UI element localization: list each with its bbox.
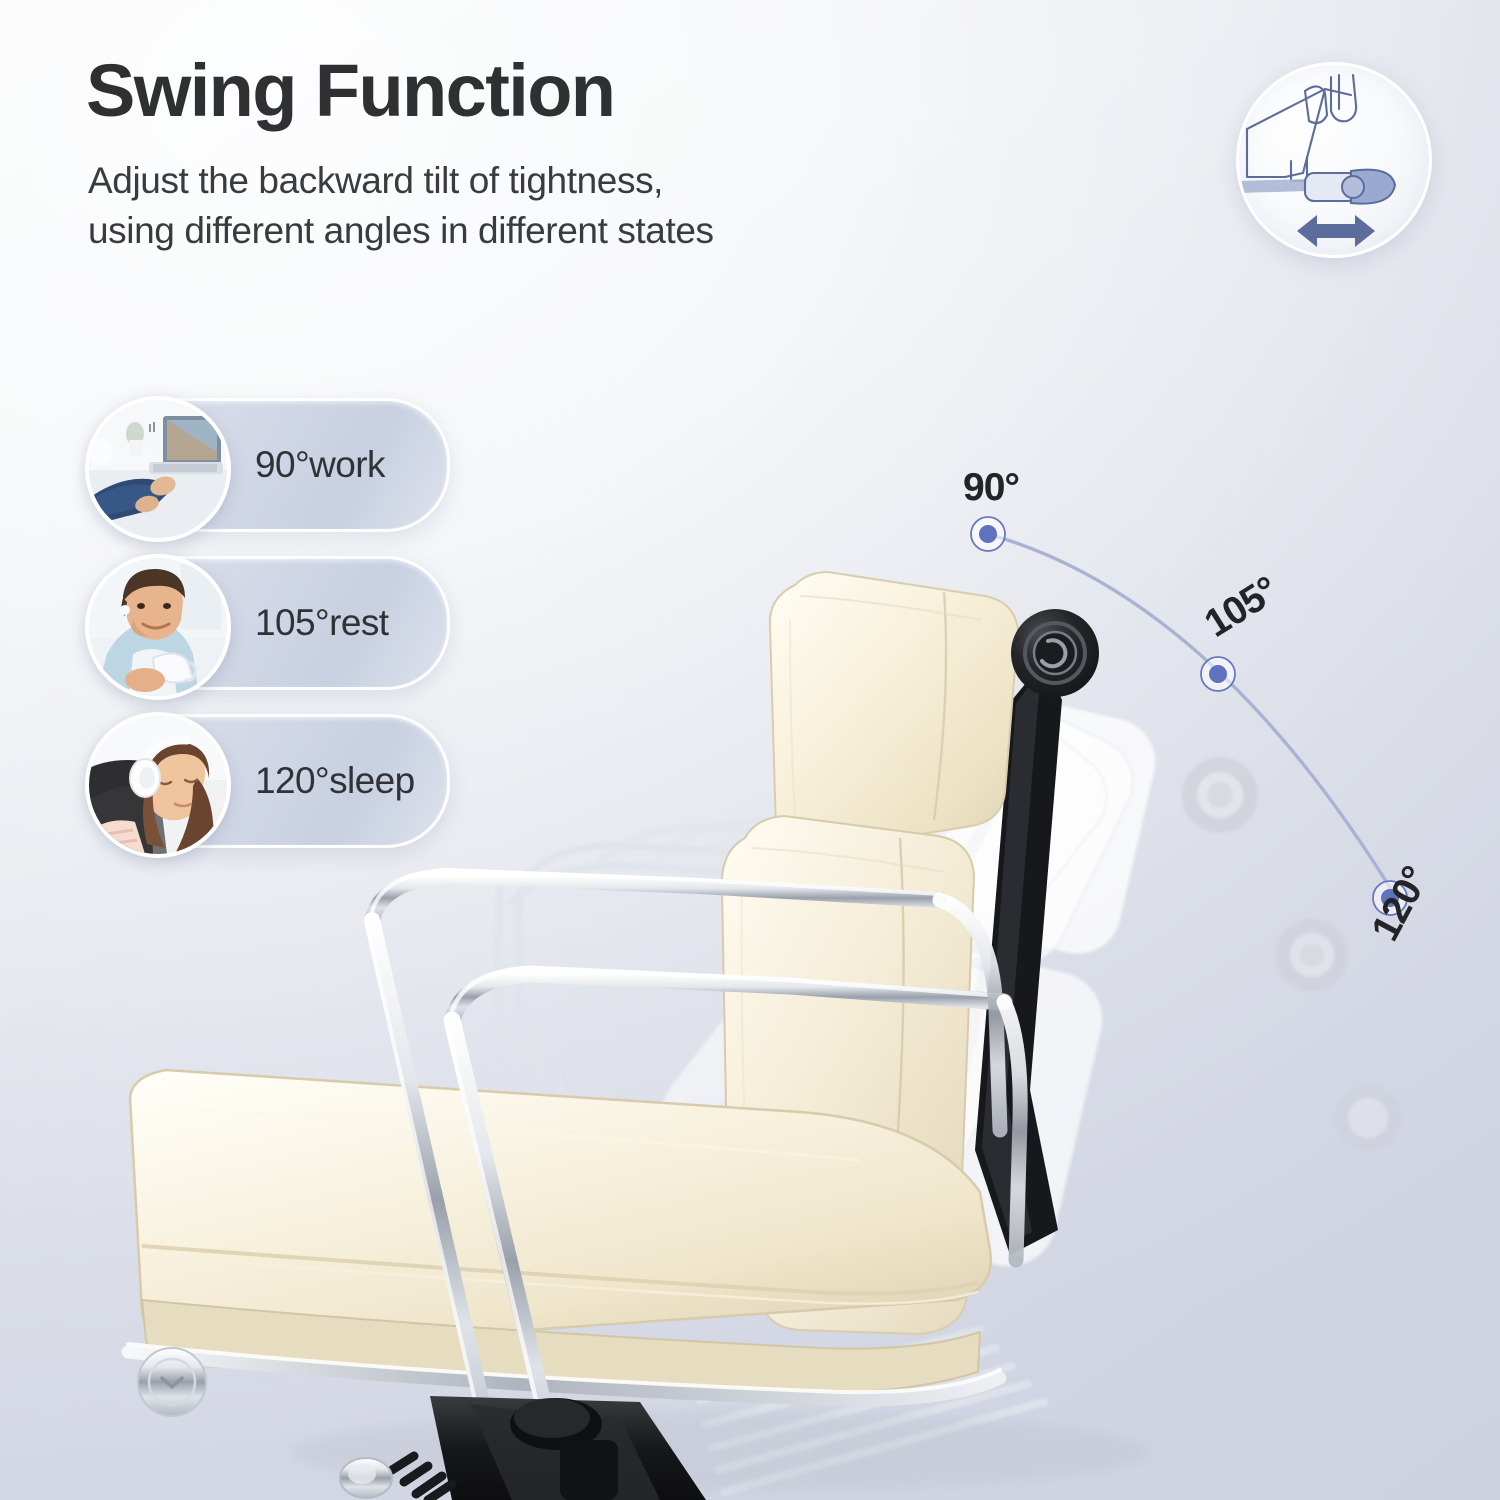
mode-pill-label-work: 90°work — [255, 444, 385, 486]
mode-pill-list: 90°work — [96, 398, 450, 872]
person-working-laptop-photo — [85, 396, 231, 542]
pivot-hub — [1011, 609, 1099, 697]
mode-pill-sleep[interactable]: 120°sleep — [96, 714, 450, 848]
seat-height-knob — [138, 1348, 206, 1416]
double-arrow-horizontal-icon — [1297, 215, 1375, 247]
mode-pill-label-sleep: 120°sleep — [255, 760, 415, 802]
page-title: Swing Function — [86, 52, 714, 130]
tension-knob-adjust-icon — [1239, 65, 1429, 255]
mode-pill-label-rest: 105°rest — [255, 602, 388, 644]
mode-pill-rest[interactable]: 105°rest — [96, 556, 450, 690]
woman-headphones-resting-photo — [85, 712, 231, 858]
tension-adjust-badge — [1236, 62, 1432, 258]
angle-label-90: 90° — [963, 466, 1019, 510]
page-subtitle: Adjust the backward tilt of tightness, u… — [88, 156, 714, 255]
ghost-pivot-hub — [1182, 757, 1401, 1151]
man-drinking-coffee-photo — [85, 554, 231, 700]
lever-handle — [1239, 170, 1395, 204]
header-block: Swing Function Adjust the backward tilt … — [86, 52, 714, 256]
headrest-cushion — [770, 572, 1018, 853]
infographic-canvas: 90° 105° 120° Swing Function Adjust the … — [0, 0, 1500, 1500]
tension-adjust-knob — [340, 1458, 392, 1498]
mode-pill-work[interactable]: 90°work — [96, 398, 450, 532]
